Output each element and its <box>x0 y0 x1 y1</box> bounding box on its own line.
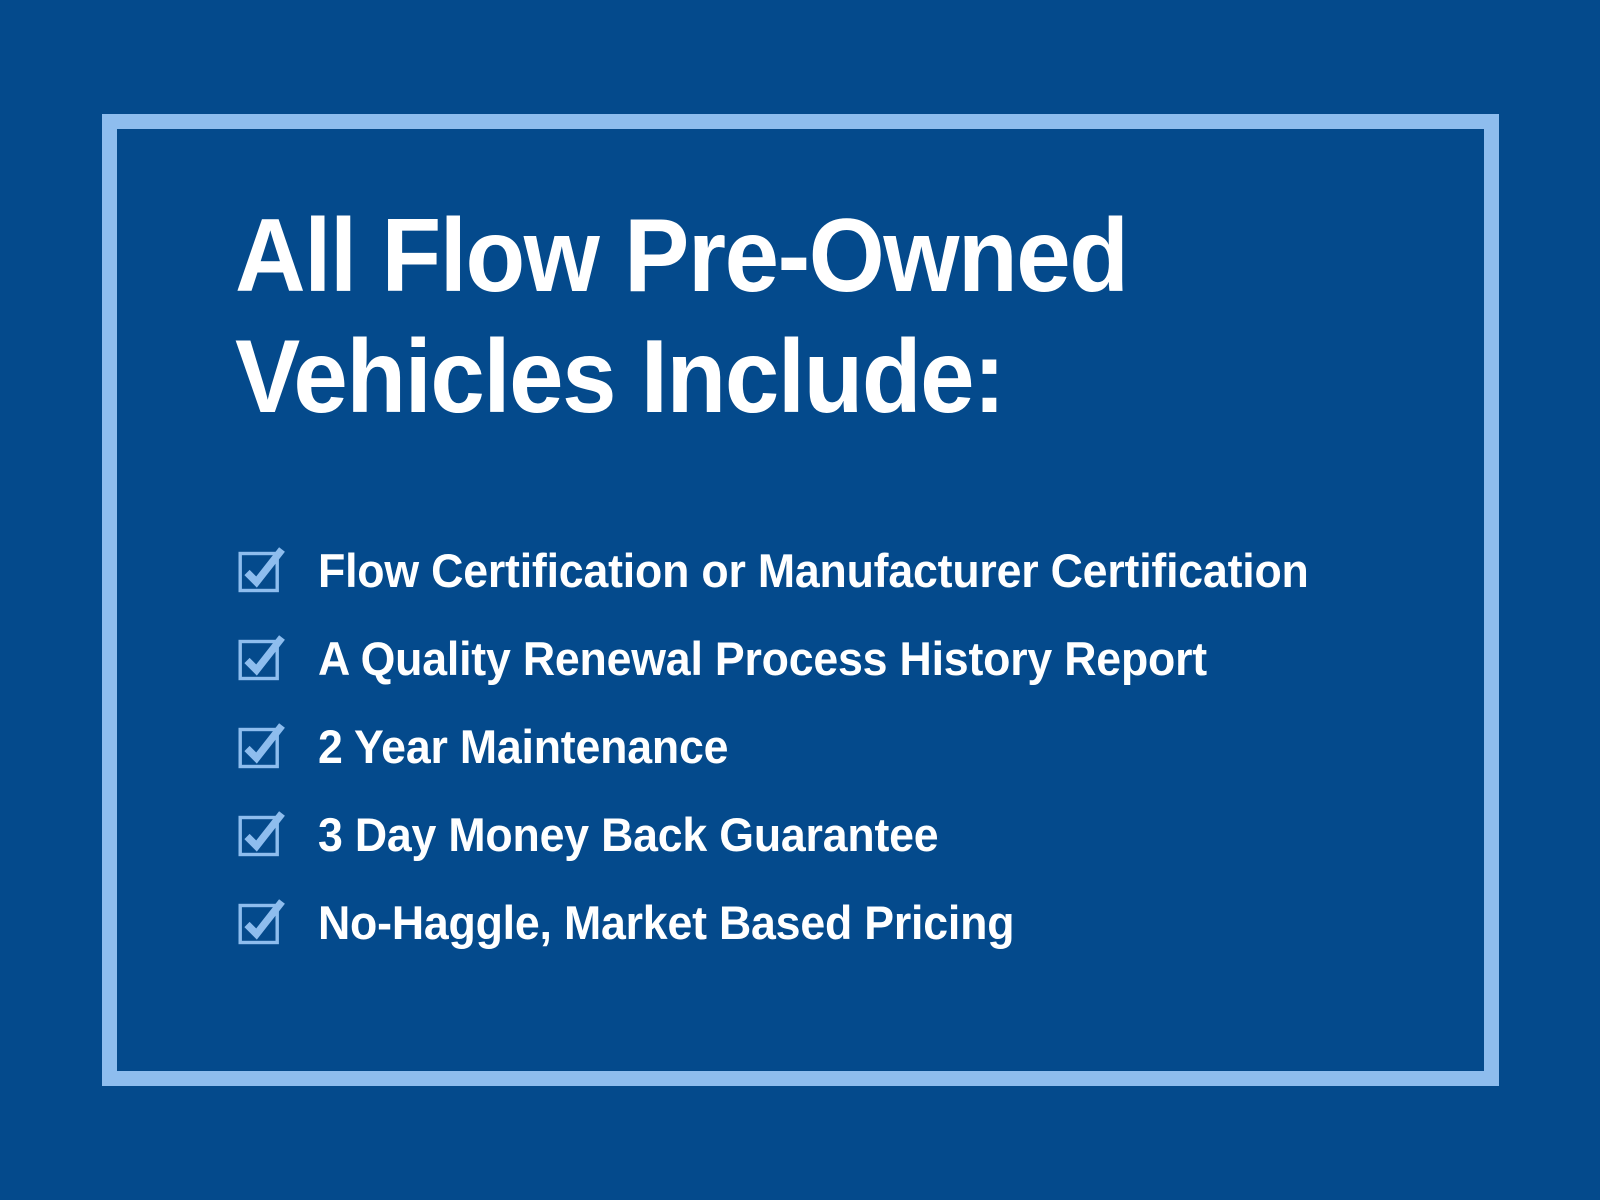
promo-card: All Flow Pre-Owned Vehicles Include: Flo… <box>0 0 1600 1200</box>
checkbox-checked-icon <box>238 899 284 945</box>
benefits-checklist: Flow Certification or Manufacturer Certi… <box>238 527 1453 967</box>
checkbox-checked-icon <box>238 723 284 769</box>
list-item-label: 2 Year Maintenance <box>318 722 728 772</box>
page-title: All Flow Pre-Owned Vehicles Include: <box>235 196 1377 438</box>
list-item: No-Haggle, Market Based Pricing <box>238 879 1453 967</box>
checkbox-checked-icon <box>238 811 284 857</box>
checkbox-checked-icon <box>238 547 284 593</box>
list-item-label: No-Haggle, Market Based Pricing <box>318 898 1014 948</box>
card-content: All Flow Pre-Owned Vehicles Include: Flo… <box>235 196 1450 438</box>
list-item: Flow Certification or Manufacturer Certi… <box>238 527 1453 615</box>
list-item: 3 Day Money Back Guarantee <box>238 791 1453 879</box>
page-title-line-2: Vehicles Include: <box>235 317 1377 438</box>
checkbox-checked-icon <box>238 635 284 681</box>
list-item-label: Flow Certification or Manufacturer Certi… <box>318 546 1309 596</box>
list-item-label: A Quality Renewal Process History Report <box>318 634 1207 684</box>
list-item-label: 3 Day Money Back Guarantee <box>318 810 938 860</box>
list-item: 2 Year Maintenance <box>238 703 1453 791</box>
page-title-line-1: All Flow Pre-Owned <box>235 196 1377 317</box>
list-item: A Quality Renewal Process History Report <box>238 615 1453 703</box>
